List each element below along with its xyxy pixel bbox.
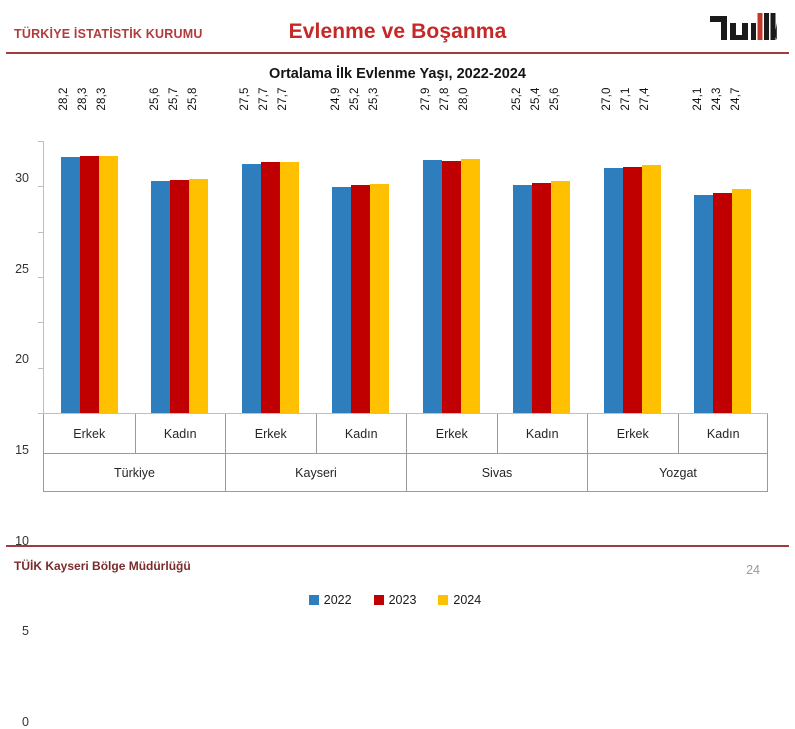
bar-value-label: 27,0 [601,87,613,110]
page-title: Evlenme ve Boşanma [0,20,795,44]
bar-value-label: 25,4 [530,87,542,110]
category-label-sex: Erkek [44,414,135,453]
footer-divider [6,545,789,547]
category-label-sex: Kadın [678,414,769,453]
y-tick-mark: 15 [38,277,43,278]
bar-value-label: 25,3 [368,87,380,110]
bar-group-bars: 28,228,328,3 [44,104,135,413]
legend-item-2024[interactable]: 2024 [438,593,481,607]
legend-label: 2022 [324,593,352,607]
legend-label: 2023 [389,593,417,607]
bar-value-label: 25,7 [168,87,180,110]
bar-value-label: 27,1 [620,87,632,110]
bar-group-bars: 25,625,725,8 [135,104,226,413]
bar-group: 27,027,127,4 [587,104,678,414]
bar-2022[interactable]: 25,2 [513,185,532,413]
legend-swatch-icon [438,595,448,605]
bar-value-label: 27,5 [239,87,251,110]
category-label-region: Kayseri [225,453,406,492]
bar-item[interactable]: 27,4 [642,104,661,413]
legend-label: 2024 [453,593,481,607]
bar-item[interactable]: 25,7 [170,104,189,413]
bar-item[interactable]: 28,0 [461,104,480,413]
header-divider [6,52,789,54]
bar-item[interactable]: 24,7 [732,104,751,413]
bar-2022[interactable]: 24,1 [694,195,713,414]
bar-value-label: 25,2 [349,87,361,110]
category-label-sex: Kadın [316,414,407,453]
bar-group: 24,124,324,7 [678,104,769,414]
bar-2023[interactable]: 28,3 [80,156,99,413]
bar-group-bars: 25,225,425,6 [497,104,588,413]
page-number: 24 [746,563,760,577]
bar-2024[interactable]: 24,7 [732,189,751,413]
bar-value-label: 27,4 [639,87,651,110]
bar-2023[interactable]: 24,3 [713,193,732,413]
footer-office-label: TÜİK Kayseri Bölge Müdürlüğü [14,559,191,573]
category-axis-region-tier: TürkiyeKayseriSivasYozgat [44,453,767,492]
bar-value-label: 25,8 [187,87,199,110]
bar-2023[interactable]: 25,2 [351,185,370,413]
plot-area: 051015202530 28,228,328,325,625,725,827,… [43,104,768,414]
legend-swatch-icon [309,595,319,605]
bar-2023[interactable]: 27,8 [442,161,461,413]
bar-2022[interactable]: 25,6 [151,181,170,413]
bar-item[interactable]: 27,0 [604,104,623,413]
bar-2022[interactable]: 27,0 [604,168,623,413]
bar-group-bars: 27,527,727,7 [225,104,316,413]
bar-value-label: 25,6 [149,87,161,110]
category-label-sex: Kadın [497,414,588,453]
legend-item-2023[interactable]: 2023 [374,593,417,607]
bar-value-label: 27,7 [258,87,270,110]
bar-value-label: 24,1 [692,87,704,110]
category-label-sex: Kadın [135,414,226,453]
category-label-sex: Erkek [587,414,678,453]
bar-2024[interactable]: 28,3 [99,156,118,413]
bar-item[interactable]: 27,7 [261,104,280,413]
bar-2022[interactable]: 24,9 [332,187,351,413]
bar-2023[interactable]: 27,1 [623,167,642,413]
legend-item-2022[interactable]: 2022 [309,593,352,607]
bar-group-bars: 27,027,127,4 [587,104,678,413]
bar-item[interactable]: 27,8 [442,104,461,413]
bar-item[interactable]: 25,2 [351,104,370,413]
y-tick-label: 15 [15,443,29,457]
y-tick-mark: 25 [38,186,43,187]
bar-item[interactable]: 27,1 [623,104,642,413]
bar-2024[interactable]: 27,7 [280,162,299,413]
bar-value-label: 27,7 [277,87,289,110]
bar-2024[interactable]: 25,8 [189,179,208,413]
bar-group: 25,625,725,8 [135,104,226,414]
bar-item[interactable]: 25,2 [513,104,532,413]
bar-value-label: 25,6 [549,87,561,110]
bar-group: 28,228,328,3 [44,104,135,414]
y-tick-label: 20 [15,352,29,366]
category-axis: ErkekKadınErkekKadınErkekKadınErkekKadın… [43,414,768,492]
bar-2024[interactable]: 27,4 [642,165,661,413]
chart-title: Ortalama İlk Evlenme Yaşı, 2022-2024 [0,66,795,82]
bar-item[interactable]: 24,9 [332,104,351,413]
bar-item[interactable]: 25,3 [370,104,389,413]
bar-item[interactable]: 25,8 [189,104,208,413]
y-tick-mark: 5 [38,368,43,369]
bar-item[interactable]: 28,3 [80,104,99,413]
bar-group-bars: 27,927,828,0 [406,104,497,413]
bar-2023[interactable]: 27,7 [261,162,280,413]
bar-item[interactable]: 25,6 [551,104,570,413]
bar-2024[interactable]: 25,3 [370,184,389,413]
bar-group: 24,925,225,3 [316,104,407,414]
bar-groups: 28,228,328,325,625,725,827,527,727,724,9… [44,104,768,414]
category-label-sex: Erkek [225,414,316,453]
bar-value-label: 28,0 [458,87,470,110]
category-label-region: Sivas [406,453,587,492]
bar-item[interactable]: 24,1 [694,104,713,413]
chart-legend: 202220232024 [14,593,776,607]
category-label-region: Yozgat [587,453,768,492]
y-tick-label: 0 [22,715,29,729]
bar-value-label: 27,8 [439,87,451,110]
bar-group-bars: 24,124,324,7 [678,104,769,413]
bar-item[interactable]: 25,6 [151,104,170,413]
y-tick-label: 5 [22,624,29,638]
bar-2024[interactable]: 25,6 [551,181,570,413]
tuik-logo [709,10,777,46]
bar-item[interactable]: 28,3 [99,104,118,413]
bar-value-label: 25,2 [511,87,523,110]
bar-2024[interactable]: 28,0 [461,159,480,413]
bar-value-label: 24,3 [711,87,723,110]
y-tick-label: 30 [15,171,29,185]
bar-2022[interactable]: 28,2 [61,157,80,413]
bar-value-label: 27,9 [420,87,432,110]
bar-item[interactable]: 28,2 [61,104,80,413]
bar-group: 27,927,828,0 [406,104,497,414]
category-label-sex: Erkek [406,414,497,453]
bar-2023[interactable]: 25,4 [532,183,551,413]
bar-group-bars: 24,925,225,3 [316,104,407,413]
y-tick-label: 25 [15,262,29,276]
bar-item[interactable]: 27,7 [280,104,299,413]
bar-item[interactable]: 24,3 [713,104,732,413]
bar-group: 27,527,727,7 [225,104,316,414]
y-tick-mark: 30 [38,141,43,142]
bar-value-label: 24,7 [730,87,742,110]
category-axis-sex-tier: ErkekKadınErkekKadınErkekKadınErkekKadın [44,414,767,453]
bar-chart: 051015202530 28,228,328,325,625,725,827,… [14,104,776,514]
bar-2022[interactable]: 27,5 [242,164,261,413]
slide-header: TÜRKİYE İSTATİSTİK KURUMU Evlenme ve Boş… [0,0,795,53]
category-label-region: Türkiye [44,453,225,492]
bar-value-label: 28,3 [77,87,89,110]
bar-2022[interactable]: 27,9 [423,160,442,413]
bar-item[interactable]: 25,4 [532,104,551,413]
bar-value-label: 24,9 [330,87,342,110]
y-tick-mark: 10 [38,322,43,323]
bar-item[interactable]: 27,9 [423,104,442,413]
bar-item[interactable]: 27,5 [242,104,261,413]
legend-swatch-icon [374,595,384,605]
bar-value-label: 28,2 [58,87,70,110]
bar-2023[interactable]: 25,7 [170,180,189,413]
bar-group: 25,225,425,6 [497,104,588,414]
bar-value-label: 28,3 [96,87,108,110]
y-tick-mark: 20 [38,232,43,233]
